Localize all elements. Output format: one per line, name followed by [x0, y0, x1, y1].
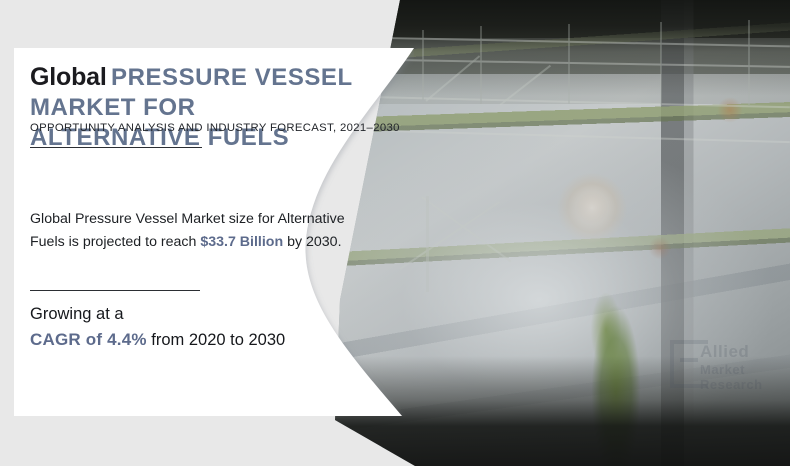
- market-size-figure: $33.7 Billion: [200, 234, 283, 250]
- subtitle: OPPORTUNITY ANALYSIS AND INDUSTRY FORECA…: [30, 122, 400, 134]
- watermark: Allied Market Research: [670, 330, 788, 400]
- cagr-value: CAGR of 4.4%: [30, 330, 147, 349]
- cagr-period: from 2020 to 2030: [147, 331, 286, 349]
- pressure-vessel-photo: Allied Market Research: [330, 0, 790, 466]
- title-lead: Global: [30, 63, 107, 91]
- market-size-text-tail: by 2030.: [283, 234, 341, 250]
- divider-bottom: [30, 290, 200, 291]
- title-highlight-line1: PRESSURE VESSEL: [111, 64, 353, 91]
- cagr-statement: Growing at a CAGR of 4.4% from 2020 to 2…: [30, 302, 360, 353]
- cagr-line1: Growing at a: [30, 302, 360, 327]
- infographic-canvas: Allied Market Research Global PRESSURE V…: [0, 0, 790, 466]
- page-title: Global PRESSURE VESSEL MARKET FOR ALTERN…: [30, 64, 360, 154]
- watermark-line1: Allied: [700, 342, 749, 362]
- market-size-statement: Global Pressure Vessel Market size for A…: [30, 208, 366, 254]
- watermark-line2: Market Research: [700, 362, 788, 392]
- divider-top: [30, 147, 202, 148]
